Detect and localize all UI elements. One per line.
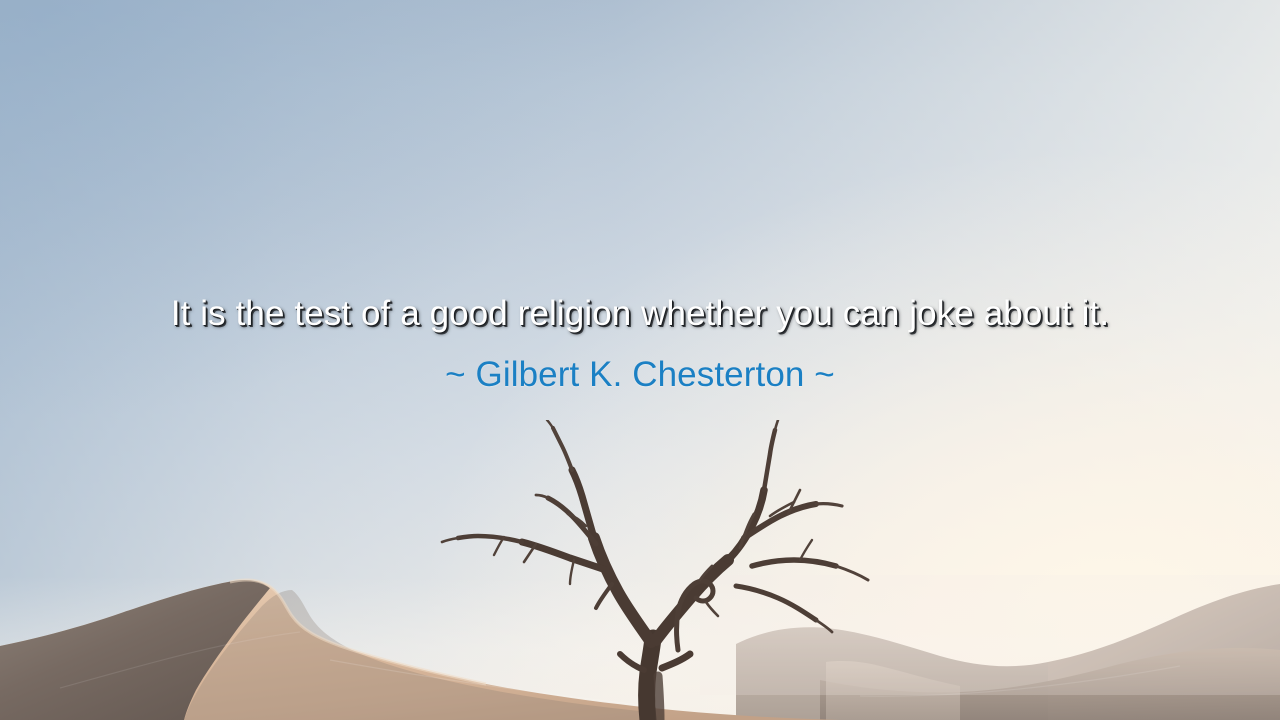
tree-twig (706, 602, 718, 616)
tree-branch-right-tip2 (775, 420, 778, 430)
tree-twig (800, 540, 812, 560)
tree-twig (570, 560, 574, 584)
tree-branch-left-out2 (458, 536, 522, 542)
tree-branch-left-tip (553, 428, 572, 470)
tree-branch-right-mid-tip (836, 566, 868, 580)
quote-overlay: It is the test of a good religion whethe… (0, 292, 1280, 396)
tree-twig (596, 584, 612, 608)
tree-trunk-side (658, 676, 660, 720)
tree-branch-right-mid (752, 560, 836, 566)
quote-text: It is the test of a good religion whethe… (110, 292, 1170, 336)
tree-branch-inner (662, 654, 690, 668)
tree-limb-left (594, 538, 651, 642)
tree-branch-left-out-tip (442, 538, 458, 542)
quote-image-canvas: It is the test of a good religion whethe… (0, 0, 1280, 720)
dead-acacia-tree (0, 420, 1280, 720)
tree-branch-left-tip2 (547, 420, 553, 428)
tree-limb-right (656, 560, 728, 640)
tree-trunk (647, 638, 654, 720)
tree-branch-right-low-tip (816, 620, 832, 632)
tree-branch-upper-left-tip (536, 495, 548, 498)
tree-branch-inner-left (620, 654, 644, 670)
quote-author: ~ Gilbert K. Chesterton ~ (110, 354, 1170, 396)
tree-branch-right-out-tip (816, 504, 842, 506)
tree-branches (442, 420, 868, 720)
tree-branch-right-low (736, 586, 816, 620)
tree-branch-right-tip (764, 430, 775, 490)
